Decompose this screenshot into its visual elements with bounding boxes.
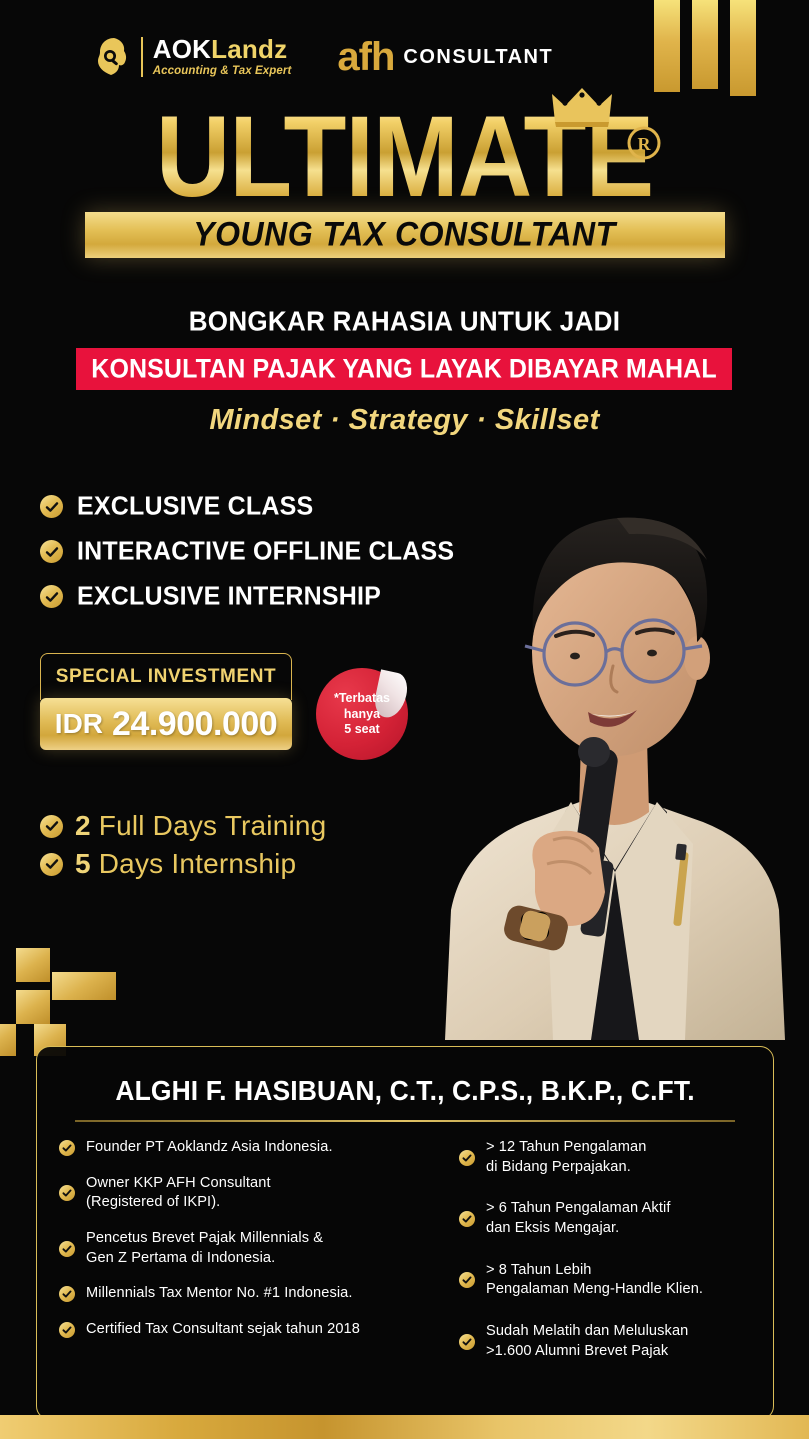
subhead-highlight-text: KONSULTAN PAJAK YANG LAYAK DIBAYAR MAHAL (91, 353, 716, 384)
aoklandz-tagline: Accounting & Tax Expert (153, 66, 292, 78)
check-circle-icon (40, 585, 63, 608)
pixel-square (0, 1024, 16, 1056)
duration-number: 5 (75, 848, 91, 879)
crown-icon (551, 86, 613, 128)
hero-section: ULTIMATE R YOUNG TAX CONSULTANT (0, 108, 809, 258)
sticker-line1: *Terbatas (334, 691, 390, 706)
gold-bar-1 (654, 0, 680, 92)
afh-wordmark: afh (337, 41, 394, 73)
logo-row: AOKLandz Accounting & Tax Expert afh CON… (0, 26, 650, 88)
price-currency: IDR (55, 708, 103, 740)
duration-list: 2 Full Days Training 5 Days Internship (40, 810, 326, 880)
feature-list: EXCLUSIVE CLASS INTERACTIVE OFFLINE CLAS… (40, 492, 454, 611)
list-item: Sudah Melatih dan Meluluskan>1.600 Alumn… (459, 1322, 755, 1361)
registered-trademark-icon: R (627, 126, 661, 160)
credential-text: > 12 Tahun Pengalamandi Bidang Perpajaka… (486, 1138, 646, 1177)
credential-text: > 6 Tahun Pengalaman Aktifdan Eksis Meng… (486, 1199, 670, 1238)
credential-text: Millennials Tax Mentor No. #1 Indonesia. (86, 1284, 353, 1304)
top-gold-bars-decoration (654, 0, 774, 100)
brain-magnifier-icon (97, 37, 131, 77)
check-circle-icon (59, 1322, 75, 1338)
bottom-gold-bar (0, 1415, 809, 1439)
list-item: > 6 Tahun Pengalaman Aktifdan Eksis Meng… (459, 1199, 755, 1238)
svg-text:R: R (638, 134, 652, 154)
check-circle-icon (459, 1150, 475, 1166)
feature-label: EXCLUSIVE CLASS (77, 491, 313, 521)
check-circle-icon (459, 1211, 475, 1227)
list-item: EXCLUSIVE CLASS (40, 492, 454, 521)
check-circle-icon (40, 815, 63, 838)
list-item: Pencetus Brevet Pajak Millennials &Gen Z… (59, 1229, 443, 1268)
credential-text: Owner KKP AFH Consultant(Registered of I… (86, 1174, 271, 1213)
feature-label: INTERACTIVE OFFLINE CLASS (77, 536, 454, 566)
feature-label: EXCLUSIVE INTERNSHIP (77, 581, 381, 611)
pixel-square (16, 990, 50, 1024)
credential-text: > 8 Tahun LebihPengalaman Meng-Handle Kl… (486, 1261, 703, 1300)
duration-text: Full Days Training (99, 810, 327, 841)
subhead-line1: BONGKAR RAHASIA UNTUK JADI (0, 305, 809, 338)
list-item: Millennials Tax Mentor No. #1 Indonesia. (59, 1284, 443, 1304)
credential-text: Certified Tax Consultant sejak tahun 201… (86, 1320, 360, 1340)
price-value: 24.900.000 (112, 705, 277, 744)
duration-text: Days Internship (99, 848, 297, 879)
check-circle-icon (59, 1241, 75, 1257)
list-item: > 12 Tahun Pengalamandi Bidang Perpajaka… (459, 1138, 755, 1177)
list-item: INTERACTIVE OFFLINE CLASS (40, 537, 454, 566)
limited-seats-sticker: *Terbatas hanya 5 seat (316, 668, 408, 760)
sticker-line3: 5 seat (344, 722, 379, 737)
check-circle-icon (59, 1140, 75, 1156)
check-circle-icon (59, 1185, 75, 1201)
check-circle-icon (459, 1272, 475, 1288)
gold-bar-2 (692, 0, 718, 89)
sticker-line2: hanya (344, 707, 380, 722)
check-circle-icon (59, 1286, 75, 1302)
list-item: Owner KKP AFH Consultant(Registered of I… (59, 1174, 443, 1213)
price-box: SPECIAL INVESTMENT IDR 24.900.000 (40, 653, 292, 750)
check-circle-icon (40, 853, 63, 876)
duration-number: 2 (75, 810, 91, 841)
check-circle-icon (40, 495, 63, 518)
list-item: 5 Days Internship (40, 848, 326, 880)
subhead-highlight-banner: KONSULTAN PAJAK YANG LAYAK DIBAYAR MAHAL (76, 348, 732, 390)
price-amount-bar: IDR 24.900.000 (40, 698, 292, 750)
speaker-name: ALGHI F. HASIBUAN, C.T., C.P.S., B.K.P.,… (37, 1046, 773, 1107)
pixel-rect (52, 972, 116, 1000)
subhead-line3: Mindset · Strategy · Skillset (0, 404, 809, 437)
afh-consultant-word: CONSULTANT (403, 46, 553, 69)
credential-text: Sudah Melatih dan Meluluskan>1.600 Alumn… (486, 1322, 688, 1361)
credential-text: Founder PT Aoklandz Asia Indonesia. (86, 1138, 333, 1158)
list-item: EXCLUSIVE INTERNSHIP (40, 582, 454, 611)
check-circle-icon (459, 1334, 475, 1350)
check-circle-icon (40, 540, 63, 563)
credential-text: Pencetus Brevet Pajak Millennials &Gen Z… (86, 1229, 323, 1268)
list-item: Certified Tax Consultant sejak tahun 201… (59, 1320, 443, 1340)
price-heading: SPECIAL INVESTMENT (40, 653, 292, 700)
pixel-square (16, 948, 50, 982)
speaker-card: ALGHI F. HASIBUAN, C.T., C.P.S., B.K.P.,… (36, 1046, 774, 1420)
gold-bar-3 (730, 0, 756, 96)
aoklandz-logo: AOKLandz Accounting & Tax Expert (97, 36, 292, 78)
credentials-right-column: > 12 Tahun Pengalamandi Bidang Perpajaka… (453, 1138, 755, 1362)
credentials-left-column: Founder PT Aoklandz Asia Indonesia. Owne… (59, 1138, 443, 1362)
aoklandz-name: AOKLandz (153, 36, 292, 62)
pixel-mosaic-decoration (0, 930, 90, 1030)
poster-root: AOKLandz Accounting & Tax Expert afh CON… (0, 0, 809, 1439)
list-item: Founder PT Aoklandz Asia Indonesia. (59, 1138, 443, 1158)
logo-divider (141, 37, 143, 77)
price-heading-label: SPECIAL INVESTMENT (56, 666, 277, 688)
list-item: > 8 Tahun LebihPengalaman Meng-Handle Kl… (459, 1261, 755, 1300)
hero-subtitle: YOUNG TAX CONSULTANT (193, 215, 615, 254)
list-item: 2 Full Days Training (40, 810, 326, 842)
afh-consultant-logo: afh CONSULTANT (337, 41, 553, 73)
